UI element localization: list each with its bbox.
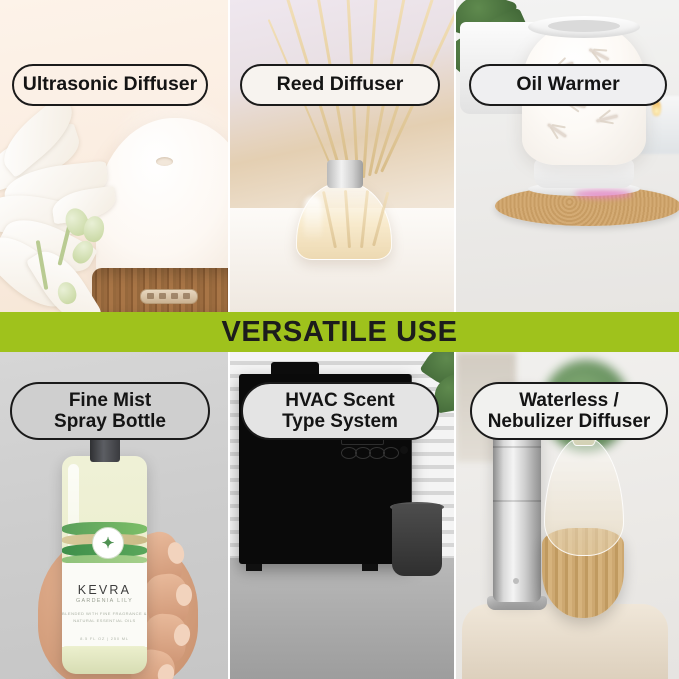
product-description: BLENDED WITH FINE FRAGRANCE & NATURAL ES… — [62, 610, 147, 624]
dragonfly-icon — [547, 123, 567, 138]
label-waterless-nebulizer-diffuser[interactable]: Waterless / Nebulizer Diffuser — [470, 382, 668, 440]
unit-knob[interactable] — [400, 446, 408, 454]
top-image-row — [0, 0, 679, 312]
label-text-line1: Fine Mist — [69, 390, 151, 411]
planter — [392, 504, 442, 576]
label-text-line1: HVAC Scent — [285, 390, 394, 411]
label-fine-mist-spray-bottle[interactable]: Fine Mist Spray Bottle — [10, 382, 210, 440]
diffuser-vent — [156, 157, 173, 166]
banner-title: VERSATILE USE — [221, 316, 457, 349]
dragonfly-icon — [596, 114, 618, 122]
label-text-line1: Oil Warmer — [516, 74, 619, 96]
label-text-line1: Ultrasonic Diffuser — [23, 74, 197, 96]
nebulizer-seam — [493, 500, 541, 502]
cell-ultrasonic-diffuser[interactable] — [0, 0, 228, 312]
leaf-drop-icon: ✦ — [92, 527, 124, 559]
label-oil-warmer[interactable]: Oil Warmer — [469, 64, 667, 106]
product-brand: KEVRA — [62, 583, 147, 597]
label-text-line2: Spray Bottle — [54, 411, 166, 432]
versatile-use-banner: VERSATILE USE — [0, 312, 679, 352]
nebulizer-seam — [493, 446, 541, 448]
cell-oil-warmer[interactable] — [456, 0, 679, 312]
control-button-4[interactable] — [383, 447, 399, 459]
diffuser-control-panel[interactable] — [140, 289, 198, 304]
label-reed-diffuser[interactable]: Reed Diffuser — [240, 64, 440, 106]
product-scent: GARDENIA LILY — [62, 598, 147, 604]
warmer-oil-dish-inner — [548, 20, 620, 32]
unit-foot — [362, 564, 378, 571]
bottle-highlight — [304, 196, 322, 242]
label-text-line1: Waterless / — [519, 390, 619, 411]
versatile-use-infographic: VERSATILE USE ✦ KEVRA GARDENIA LILY BLEN… — [0, 0, 679, 679]
label-text-line1: Reed Diffuser — [277, 74, 404, 96]
table-surface — [462, 604, 668, 679]
label-text-line2: Type System — [282, 411, 398, 432]
label-hvac-scent-system[interactable]: HVAC Scent Type System — [241, 382, 439, 440]
label-text-line2: Nebulizer Diffuser — [488, 411, 651, 432]
bottle-base — [62, 646, 147, 674]
unit-foot — [246, 564, 262, 571]
cell-reed-diffuser[interactable] — [230, 0, 454, 312]
product-volume: 8.5 FL OZ | 250 ML — [62, 636, 147, 641]
warmer-light-glow — [574, 190, 632, 198]
diffuser-glass-body — [544, 436, 624, 556]
dragonfly-icon — [589, 48, 610, 61]
bottle-label — [62, 563, 147, 647]
floor-surface — [230, 558, 454, 679]
fingernail — [176, 584, 192, 606]
label-ultrasonic-diffuser[interactable]: Ultrasonic Diffuser — [12, 64, 208, 106]
power-indicator-icon — [513, 578, 519, 584]
bottle-collar — [327, 160, 363, 188]
